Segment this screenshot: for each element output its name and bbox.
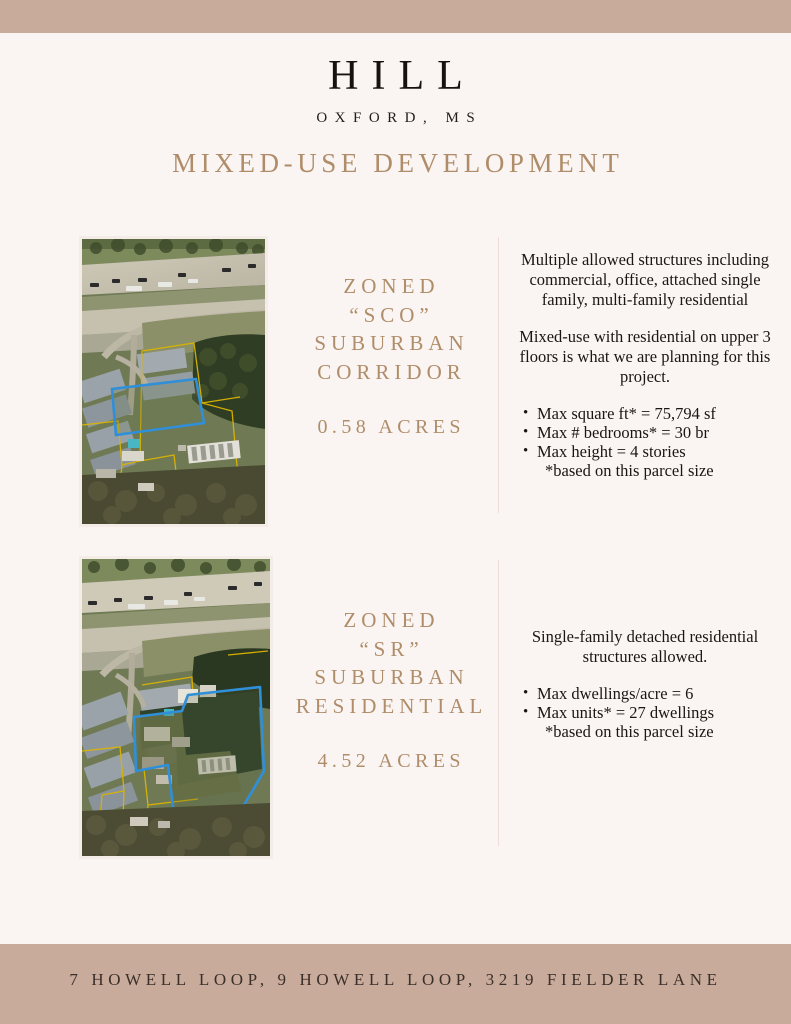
acreage-sco: 0.58 ACRES bbox=[280, 416, 498, 439]
zone-line: “SR” bbox=[280, 635, 498, 664]
footer-address: 7 HOWELL LOOP, 9 HOWELL LOOP, 3219 FIELD… bbox=[0, 970, 791, 990]
detail-bullet-list: Max dwellings/acre = 6 Max units* = 27 d… bbox=[519, 684, 771, 741]
detail-paragraph: Single-family detached residential struc… bbox=[519, 627, 771, 667]
zone-line: SUBURBAN bbox=[280, 663, 498, 692]
zoning-label-sr: ZONED “SR” SUBURBAN RESIDENTIAL 4.52 ACR… bbox=[280, 606, 498, 773]
zone-line: ZONED bbox=[280, 272, 498, 301]
zone-line: ZONED bbox=[280, 606, 498, 635]
bullet-item: Max # bedrooms* = 30 br bbox=[537, 423, 771, 442]
headline: MIXED-USE DEVELOPMENT bbox=[0, 148, 791, 179]
zoning-label-sco: ZONED “SCO” SUBURBAN CORRIDOR 0.58 ACRES bbox=[280, 272, 498, 439]
bullet-footnote: *based on this parcel size bbox=[537, 461, 771, 480]
zone-line: SUBURBAN bbox=[280, 329, 498, 358]
aerial-image-sco bbox=[82, 239, 265, 524]
bullet-item: Max height = 4 stories bbox=[537, 442, 771, 461]
zone-line: “SCO” bbox=[280, 301, 498, 330]
zoning-details-sco: Multiple allowed structures including co… bbox=[519, 250, 771, 480]
bullet-footnote: *based on this parcel size bbox=[537, 722, 771, 741]
bullet-item: Max dwellings/acre = 6 bbox=[537, 684, 771, 703]
acreage-sr: 4.52 ACRES bbox=[280, 750, 498, 773]
page-title: HILL bbox=[0, 52, 791, 100]
section-divider-1 bbox=[498, 237, 499, 513]
zoning-details-sr: Single-family detached residential struc… bbox=[519, 627, 771, 741]
aerial-photo-sr[interactable] bbox=[79, 556, 273, 859]
detail-bullet-list: Max square ft* = 75,794 sf Max # bedroom… bbox=[519, 404, 771, 480]
zone-line: RESIDENTIAL bbox=[280, 692, 498, 721]
zone-line: CORRIDOR bbox=[280, 358, 498, 387]
bullet-item: Max square ft* = 75,794 sf bbox=[537, 404, 771, 423]
top-color-band bbox=[0, 0, 791, 33]
detail-paragraph: Mixed-use with residential on upper 3 fl… bbox=[519, 327, 771, 387]
detail-paragraph: Multiple allowed structures including co… bbox=[519, 250, 771, 310]
aerial-image-sr bbox=[82, 559, 270, 856]
location-subtitle: OXFORD, MS bbox=[0, 110, 791, 127]
section-divider-2 bbox=[498, 560, 499, 846]
aerial-photo-sco[interactable] bbox=[79, 236, 268, 527]
bullet-item: Max units* = 27 dwellings bbox=[537, 703, 771, 722]
